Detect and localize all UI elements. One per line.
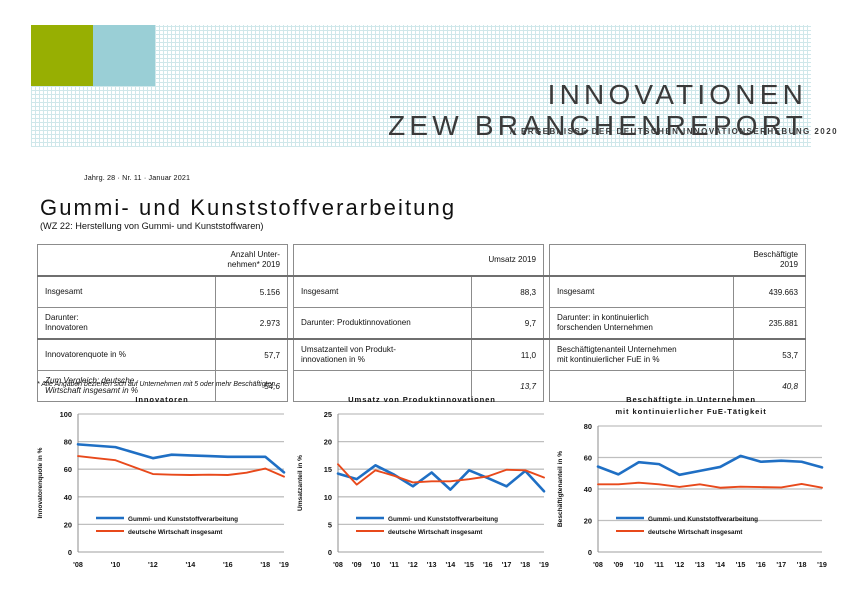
svg-text:'09: '09 <box>614 560 624 569</box>
svg-text:'16: '16 <box>223 560 233 569</box>
cell-label: Darunter: Innovatoren <box>38 308 216 340</box>
table-row: Darunter: Innovatoren 2.973 Darunter: Pr… <box>38 308 806 340</box>
svg-text:'19: '19 <box>539 560 549 569</box>
svg-text:'18: '18 <box>260 560 270 569</box>
cell-label: Umsatzanteil von Produkt- innovationen i… <box>294 339 472 371</box>
svg-text:'10: '10 <box>634 560 644 569</box>
svg-text:'08: '08 <box>73 560 83 569</box>
svg-text:40: 40 <box>584 485 592 494</box>
svg-text:Beschäftigtenanteil in %: Beschäftigtenanteil in % <box>557 451 564 527</box>
svg-text:'15: '15 <box>736 560 746 569</box>
page-title: Gummi- und Kunststoffverarbeitung <box>40 195 456 221</box>
cell-value: 439.663 <box>734 276 806 308</box>
svg-text:80: 80 <box>584 422 592 431</box>
cell-label: Insgesamt <box>38 276 216 308</box>
cell-label: Insgesamt <box>550 276 734 308</box>
svg-text:'18: '18 <box>797 560 807 569</box>
chart-canvas: 020406080100Innovatorenquote in %'08'10'… <box>32 406 292 578</box>
svg-text:'12: '12 <box>148 560 158 569</box>
kpi-table-wrap: Anzahl Unter- nehmen* 2019 Umsatz 2019 B… <box>37 244 805 402</box>
col-header-umsatz: Umsatz 2019 <box>294 245 544 277</box>
svg-text:'12: '12 <box>408 560 418 569</box>
svg-text:60: 60 <box>64 465 72 474</box>
svg-text:'17: '17 <box>502 560 512 569</box>
col-header-beschaeftigte: Beschäftigte 2019 <box>550 245 806 277</box>
cell-label: Beschäftigtenanteil Unternehmen mit kont… <box>550 339 734 371</box>
col-header-unternehmen: Anzahl Unter- nehmen* 2019 <box>38 245 288 277</box>
chart-title: Innovatoren <box>32 394 292 406</box>
svg-text:80: 80 <box>64 438 72 447</box>
table-header-row: Anzahl Unter- nehmen* 2019 Umsatz 2019 B… <box>38 245 806 277</box>
cell-label: Darunter: Produktinnovationen <box>294 308 472 340</box>
svg-text:15: 15 <box>324 465 332 474</box>
table-footnote: * Alle Angaben beziehen sich auf Unterne… <box>37 381 277 388</box>
header-subtitle: // ERGEBNISSE DER DEUTSCHEN INNOVATIONSE… <box>510 127 838 136</box>
report-page: INNOVATIONEN ZEW BRANCHENREPORT // ERGEB… <box>0 0 842 595</box>
svg-text:Gummi- und Kunststoffverarbeit: Gummi- und Kunststoffverarbeitung <box>388 516 498 523</box>
cell-value: 2.973 <box>216 308 288 340</box>
svg-text:'12: '12 <box>675 560 685 569</box>
page-subtitle: (WZ 22: Herstellung von Gummi- und Kunst… <box>40 221 263 231</box>
cell-value: 88,3 <box>472 276 544 308</box>
svg-text:'16: '16 <box>756 560 766 569</box>
svg-text:60: 60 <box>584 454 592 463</box>
header-title-line2: ZEW BRANCHENREPORT <box>388 110 807 141</box>
issue-line: Jahrg. 28 · Nr. 11 · Januar 2021 <box>84 173 190 182</box>
cell-value: 235.881 <box>734 308 806 340</box>
svg-text:20: 20 <box>324 438 332 447</box>
chart-canvas: 0510152025Umsatzanteil in %'08'09'10'11'… <box>292 406 552 578</box>
table-row: Innovatorenquote in % 57,7 Umsatzanteil … <box>38 339 806 371</box>
svg-text:0: 0 <box>588 548 592 557</box>
table-row: Insgesamt 5.156 Insgesamt 88,3 Insgesamt… <box>38 276 806 308</box>
cell-value: 11,0 <box>472 339 544 371</box>
svg-text:20: 20 <box>584 517 592 526</box>
chart-innovatoren: Innovatoren 020406080100Innovatorenquote… <box>32 394 292 584</box>
svg-text:'18: '18 <box>520 560 530 569</box>
svg-text:10: 10 <box>324 493 332 502</box>
header-title-line1: INNOVATIONEN <box>388 79 807 110</box>
chart-beschaeftigte-fue: Beschäftigte in Unternehmen mit kontinui… <box>552 394 830 584</box>
chart-title: Umsatz von Produktinnovationen <box>292 394 552 406</box>
svg-text:'19: '19 <box>279 560 289 569</box>
svg-text:'11: '11 <box>654 560 663 569</box>
svg-text:'09: '09 <box>352 560 362 569</box>
svg-text:'10: '10 <box>111 560 121 569</box>
svg-text:deutsche Wirtschaft insgesamt: deutsche Wirtschaft insgesamt <box>388 529 483 536</box>
svg-text:'08: '08 <box>333 560 343 569</box>
svg-text:deutsche Wirtschaft insgesamt: deutsche Wirtschaft insgesamt <box>648 529 743 536</box>
svg-text:'11: '11 <box>390 560 399 569</box>
svg-text:0: 0 <box>328 548 332 557</box>
svg-text:'14: '14 <box>715 560 725 569</box>
svg-text:'13: '13 <box>695 560 705 569</box>
svg-text:Gummi- und Kunststoffverarbeit: Gummi- und Kunststoffverarbeitung <box>128 516 238 523</box>
logo-block-olive <box>31 25 93 86</box>
svg-text:'10: '10 <box>371 560 381 569</box>
svg-text:100: 100 <box>60 410 72 419</box>
svg-text:Umsatzanteil in %: Umsatzanteil in % <box>297 455 304 511</box>
svg-text:'13: '13 <box>427 560 437 569</box>
cell-label: Innovatorenquote in % <box>38 339 216 371</box>
svg-text:'14: '14 <box>186 560 196 569</box>
cell-value: 5.156 <box>216 276 288 308</box>
svg-text:'14: '14 <box>446 560 456 569</box>
cell-value: 9,7 <box>472 308 544 340</box>
chart-title-line2: mit kontinuierlicher FuE-Tätigkeit <box>552 406 830 418</box>
svg-text:'08: '08 <box>593 560 603 569</box>
svg-text:25: 25 <box>324 410 332 419</box>
svg-text:Gummi- und Kunststoffverarbeit: Gummi- und Kunststoffverarbeitung <box>648 516 758 523</box>
svg-text:'15: '15 <box>464 560 474 569</box>
svg-text:'19: '19 <box>817 560 827 569</box>
chart-title: Beschäftigte in Unternehmen <box>552 394 830 406</box>
svg-text:Innovatorenquote in %: Innovatorenquote in % <box>37 447 44 518</box>
cell-value: 57,7 <box>216 339 288 371</box>
chart-umsatz-produktinnovationen: Umsatz von Produktinnovationen 051015202… <box>292 394 552 584</box>
cell-value: 53,7 <box>734 339 806 371</box>
svg-text:5: 5 <box>328 520 332 529</box>
svg-text:deutsche Wirtschaft insgesamt: deutsche Wirtschaft insgesamt <box>128 529 223 536</box>
svg-text:20: 20 <box>64 520 72 529</box>
kpi-table: Anzahl Unter- nehmen* 2019 Umsatz 2019 B… <box>37 244 806 402</box>
logo-block-teal <box>93 25 155 86</box>
svg-text:'17: '17 <box>776 560 786 569</box>
svg-text:'16: '16 <box>483 560 493 569</box>
svg-text:40: 40 <box>64 493 72 502</box>
cell-label: Insgesamt <box>294 276 472 308</box>
chart-canvas: 020406080Beschäftigtenanteil in %'08'09'… <box>552 418 830 578</box>
svg-text:0: 0 <box>68 548 72 557</box>
cell-label: Darunter: in kontinuierlich forschenden … <box>550 308 734 340</box>
